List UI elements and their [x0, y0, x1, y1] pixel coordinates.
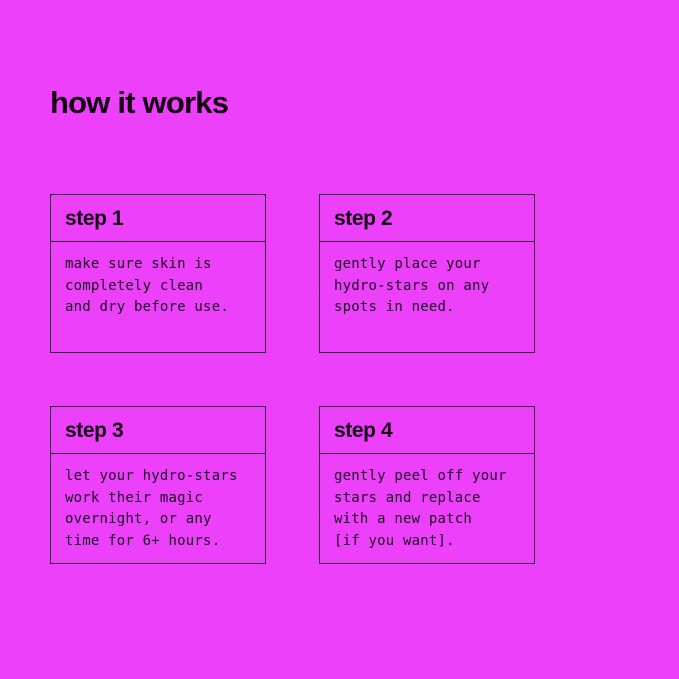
- step-card-3-title: step 3: [65, 420, 123, 441]
- step-card-3-header: step 3: [51, 407, 265, 454]
- step-card-2-description: gently place your hydro-stars on any spo…: [334, 254, 526, 319]
- step-card-4-header: step 4: [320, 407, 534, 454]
- step-card-3-body: let your hydro-stars work their magic ov…: [51, 454, 265, 563]
- step-card-3-description: let your hydro-stars work their magic ov…: [65, 466, 257, 552]
- step-card-4-title: step 4: [334, 420, 392, 441]
- step-card-3: step 3 let your hydro-stars work their m…: [50, 406, 266, 564]
- step-card-2-title: step 2: [334, 208, 392, 229]
- step-card-4-description: gently peel off your stars and replace w…: [334, 466, 526, 552]
- step-card-1-body: make sure skin is completely clean and d…: [51, 242, 265, 352]
- step-card-1-header: step 1: [51, 195, 265, 242]
- step-card-2-body: gently place your hydro-stars on any spo…: [320, 242, 534, 352]
- page-title: how it works: [50, 87, 228, 118]
- step-card-1-title: step 1: [65, 208, 123, 229]
- step-card-2-header: step 2: [320, 195, 534, 242]
- how-it-works-panel: how it works step 1 make sure skin is co…: [0, 0, 679, 679]
- step-card-2: step 2 gently place your hydro-stars on …: [319, 194, 535, 353]
- step-card-1: step 1 make sure skin is completely clea…: [50, 194, 266, 353]
- step-card-1-description: make sure skin is completely clean and d…: [65, 254, 257, 319]
- step-card-4-body: gently peel off your stars and replace w…: [320, 454, 534, 563]
- step-card-4: step 4 gently peel off your stars and re…: [319, 406, 535, 564]
